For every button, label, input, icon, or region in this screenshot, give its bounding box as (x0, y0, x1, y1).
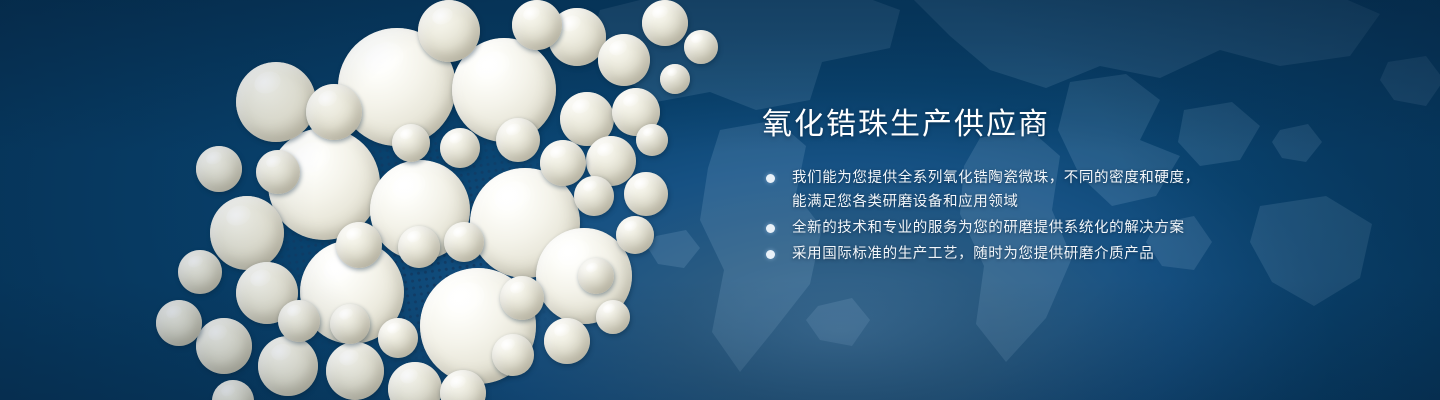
list-item: 全新的技术和专业的服务为您的研磨提供系统化的解决方案 (762, 216, 1382, 240)
list-item-line1: 全新的技术和专业的服务为您的研磨提供系统化的解决方案 (792, 220, 1185, 236)
bullet-dot-icon (766, 174, 775, 183)
list-item-line1: 采用国际标准的生产工艺，随时为您提供研磨介质产品 (792, 246, 1154, 262)
bullet-dot-icon (766, 224, 775, 233)
page-title: 氧化锆珠生产供应商 (762, 106, 1382, 144)
feature-list: 我们能为您提供全系列氧化锆陶瓷微珠，不同的密度和硬度， 能满足您各类研磨设备和应… (762, 166, 1382, 266)
hero-banner: 氧化锆珠生产供应商 我们能为您提供全系列氧化锆陶瓷微珠，不同的密度和硬度， 能满… (0, 0, 1440, 400)
list-item: 我们能为您提供全系列氧化锆陶瓷微珠，不同的密度和硬度， 能满足您各类研磨设备和应… (762, 166, 1382, 214)
banner-content: 氧化锆珠生产供应商 我们能为您提供全系列氧化锆陶瓷微珠，不同的密度和硬度， 能满… (762, 106, 1382, 268)
list-item-line1: 我们能为您提供全系列氧化锆陶瓷微珠，不同的密度和硬度， (792, 170, 1200, 186)
list-item: 采用国际标准的生产工艺，随时为您提供研磨介质产品 (762, 242, 1382, 266)
bullet-dot-icon (766, 250, 775, 259)
list-item-line2: 能满足您各类研磨设备和应用领域 (792, 190, 1382, 214)
